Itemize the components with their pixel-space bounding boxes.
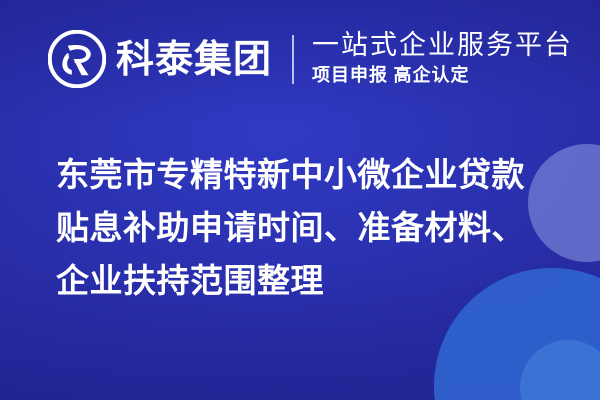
title-line-1: 东莞市专精特新中小微企业贷款 <box>56 148 560 201</box>
tagline-sub: 项目申报 高企认定 <box>312 64 573 87</box>
tagline-block: 一站式企业服务平台 项目申报 高企认定 <box>312 31 573 87</box>
title-line-3: 企业扶持范围整理 <box>56 254 560 307</box>
banner-header: 科泰集团 一站式企业服务平台 项目申报 高企认定 <box>0 18 600 100</box>
tagline-main: 一站式企业服务平台 <box>312 31 573 60</box>
brand-name: 科泰集团 <box>116 40 272 78</box>
page-title: 东莞市专精特新中小微企业贷款 贴息补助申请时间、准备材料、 企业扶持范围整理 <box>56 148 560 307</box>
promo-banner: 科泰集团 一站式企业服务平台 项目申报 高企认定 东莞市专精特新中小微企业贷款 … <box>0 0 600 400</box>
ketai-circular-logo-icon <box>48 30 106 88</box>
header-divider <box>292 35 294 84</box>
title-line-2: 贴息补助申请时间、准备材料、 <box>56 201 560 254</box>
